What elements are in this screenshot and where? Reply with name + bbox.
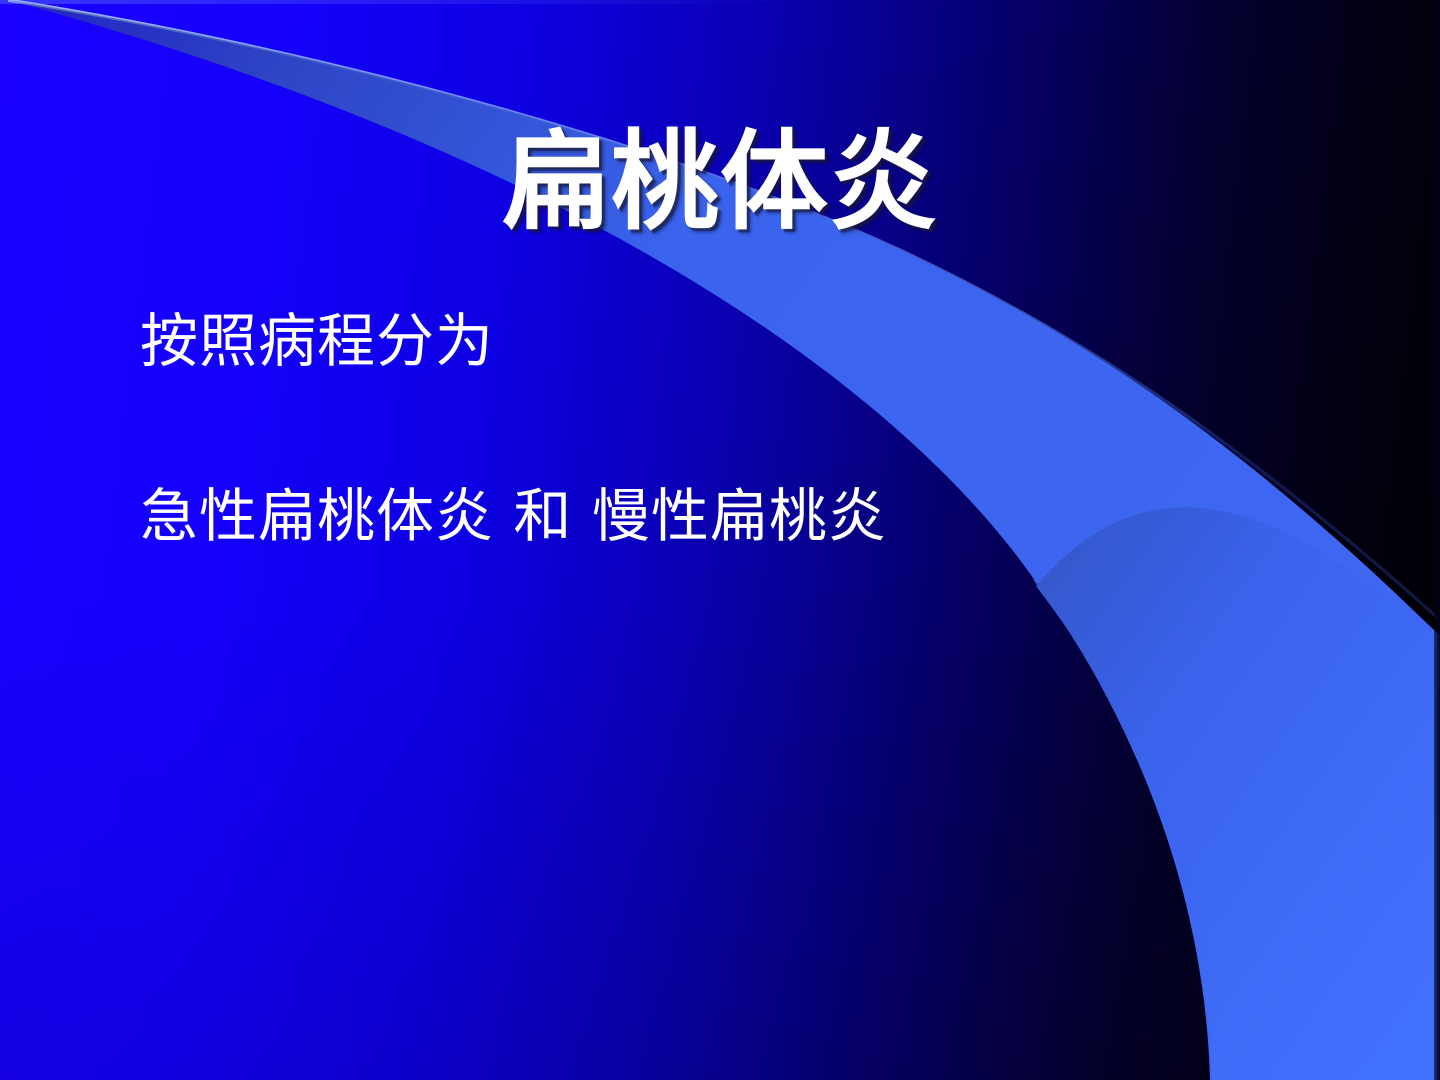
- body-line-spacer: [140, 373, 1260, 485]
- body-line-1: 按照病程分为: [140, 310, 1260, 373]
- body-line-2: 急性扁桃体炎 和 慢性扁桃炎: [140, 485, 1260, 548]
- swoosh-corner-fill: [1036, 507, 1440, 1080]
- slide-body: 按照病程分为 急性扁桃体炎 和 慢性扁桃炎: [140, 310, 1260, 547]
- slide-title: 扁桃体炎: [0, 122, 1440, 243]
- slide-canvas: 扁桃体炎 按照病程分为 急性扁桃体炎 和 慢性扁桃炎: [0, 0, 1440, 1080]
